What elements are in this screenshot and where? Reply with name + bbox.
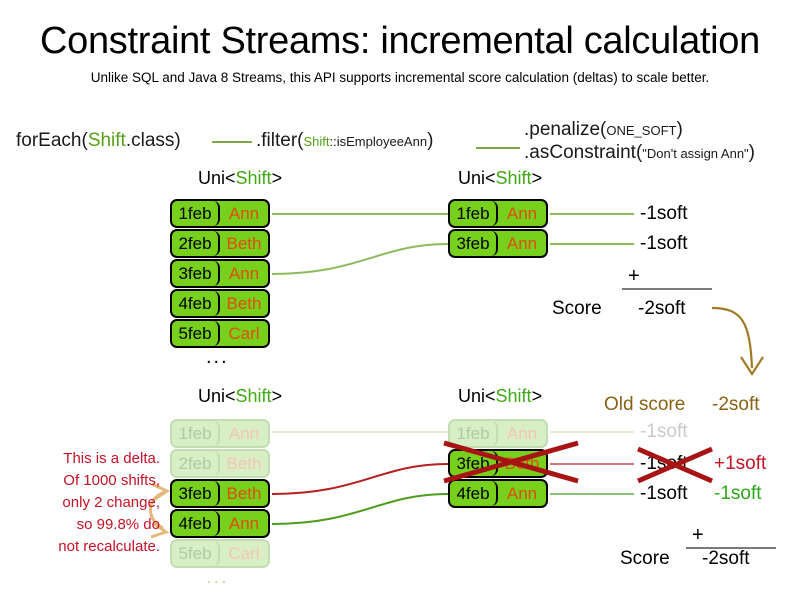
- penalty-delta-positive: +1soft: [714, 453, 766, 475]
- slide-canvas: Constraint Streams: incremental calculat…: [0, 0, 800, 600]
- score-label-bottom: Score: [620, 548, 670, 570]
- score-total-bottom: -2soft: [702, 548, 750, 570]
- penalty-delta-negative: -1soft: [714, 483, 762, 505]
- sum-plus-sign-bottom: +: [692, 524, 704, 547]
- delta-note: This is a delta.Of 1000 shifts,only 2 ch…: [8, 448, 160, 558]
